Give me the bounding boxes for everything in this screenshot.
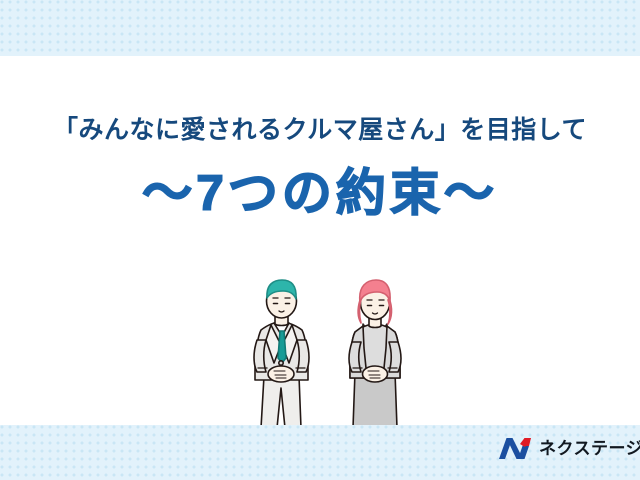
top-dot-band bbox=[0, 0, 640, 56]
staff-illustration bbox=[236, 268, 426, 428]
brand-logo: ネクステージ bbox=[498, 437, 640, 460]
female-staff-figure bbox=[349, 280, 401, 428]
nextage-n-mark-icon bbox=[498, 437, 532, 460]
headline-line-2: ～7つの約束～ bbox=[0, 162, 640, 224]
brand-wordmark: ネクステージ bbox=[539, 437, 640, 460]
headline-line-1: 「みんなに愛されるクルマ屋さん」を目指して bbox=[0, 110, 640, 150]
headline-block: 「みんなに愛されるクルマ屋さん」を目指して ～7つの約束～ bbox=[0, 110, 640, 224]
male-staff-figure bbox=[254, 280, 309, 428]
banner-image: 「みんなに愛されるクルマ屋さん」を目指して ～7つの約束～ bbox=[0, 0, 640, 480]
